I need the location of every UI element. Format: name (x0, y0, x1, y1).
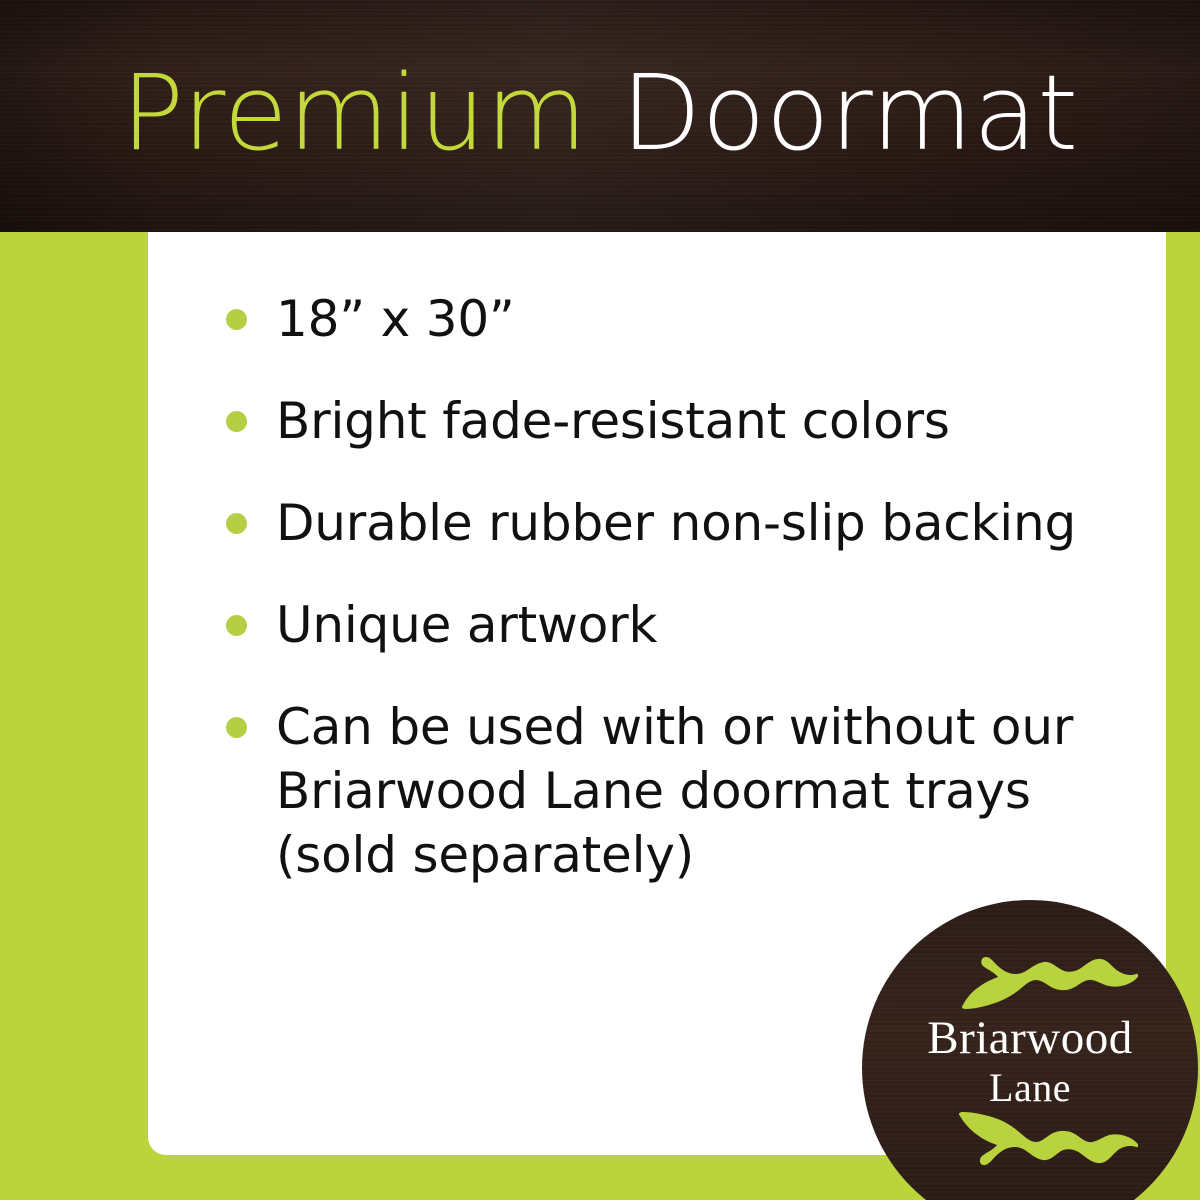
brand-wordmark: Briarwood Lane (862, 1012, 1198, 1112)
bullet-icon (226, 411, 247, 432)
list-item-line: Bright fade-resistant colors (276, 389, 1126, 453)
page-title: Premium Doormat (0, 54, 1200, 172)
bullet-icon (226, 615, 247, 636)
list-item-line: 18” x 30” (276, 287, 1126, 351)
list-item: Can be used with or without our Briarwoo… (226, 695, 1126, 887)
list-item: 18” x 30” (226, 287, 1126, 351)
list-item-line: Briarwood Lane doormat trays (276, 759, 1126, 823)
list-item: Bright fade-resistant colors (226, 389, 1126, 453)
page-title-secondary: Doormat (621, 52, 1079, 174)
brand-name-secondary: Lane (862, 1064, 1198, 1112)
sidebar-band (0, 232, 148, 1200)
brand-name-primary: Briarwood (862, 1012, 1198, 1064)
oak-leaf-icon (954, 1102, 1144, 1178)
page-title-space (588, 52, 622, 174)
feature-list: 18” x 30” Bright fade-resistant colors D… (226, 287, 1126, 887)
list-item-line: Can be used with or without our (276, 695, 1126, 759)
list-item-line: (sold separately) (276, 823, 1126, 887)
oak-leaf-icon (958, 944, 1140, 1016)
list-item-line: Unique artwork (276, 593, 1126, 657)
list-item-line: Durable rubber non-slip backing (276, 491, 1126, 555)
page-title-primary: Premium (121, 52, 587, 174)
list-item: Unique artwork (226, 593, 1126, 657)
list-item: Durable rubber non-slip backing (226, 491, 1126, 555)
product-feature-infographic: Premium Doormat Premium Outdoor Decor 18… (0, 0, 1200, 1200)
bullet-icon (226, 717, 247, 738)
bullet-icon (226, 309, 247, 330)
bullet-icon (226, 513, 247, 534)
